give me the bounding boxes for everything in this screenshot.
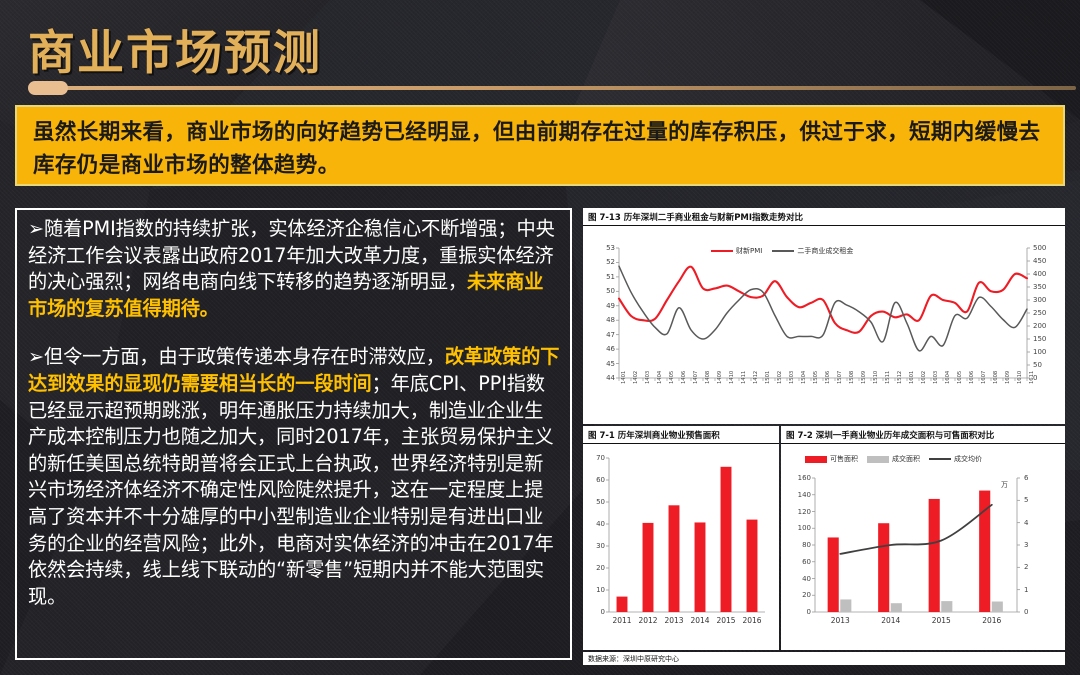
- legend-swatch-0: [711, 250, 733, 252]
- series-line-成交均价: [840, 505, 992, 554]
- category-label-2016: 2016: [976, 616, 1008, 625]
- category-label-2012: 2012: [634, 616, 662, 625]
- ytick-left-45: 45: [597, 360, 615, 368]
- xtick-1601: 1601: [909, 371, 915, 384]
- ytick-left-52: 52: [597, 258, 615, 266]
- category-label-2014: 2014: [686, 616, 714, 625]
- source-note: 数据来源：深圳中原研究中心: [583, 652, 1065, 665]
- category-label-2015: 2015: [712, 616, 740, 625]
- ytick-left-53: 53: [597, 244, 615, 252]
- xtick-1405: 1405: [669, 371, 675, 384]
- bar-成交面积-2016: [992, 602, 1003, 612]
- series-line-财新PMI: [619, 267, 1027, 333]
- paragraph-2-body-a: 但令一方面，由于政策传递本身存在时滞效应，: [44, 345, 445, 368]
- chart-title-supply-sales: 图 7-2 深圳一手商业物业历年成交面积与可售面积对比: [781, 426, 1065, 444]
- ytick-left-60: 60: [789, 558, 811, 566]
- bar-2012: [643, 523, 654, 612]
- xtick-1504: 1504: [801, 371, 807, 384]
- xtick-1605: 1605: [957, 371, 963, 384]
- ytick-right-300: 300: [1033, 296, 1046, 304]
- chart-legend-supply-sales: 可售面积成交面积成交均价: [805, 454, 982, 464]
- xtick-1611: 1611: [1029, 371, 1035, 384]
- category-label-2013: 2013: [824, 616, 856, 625]
- paragraph-2-body-b: ；年底CPI、PPI指数已经显示超预期跳涨，明年通胀压力持续加大，制造业企业生产…: [28, 372, 554, 608]
- bar-2015: [721, 467, 732, 612]
- category-label-2015: 2015: [925, 616, 957, 625]
- legend-label-0: 财新PMI: [736, 246, 762, 256]
- y2-unit-label: 万: [1001, 480, 1008, 490]
- ytick-right-450: 450: [1033, 257, 1046, 265]
- ytick-right-6: 6: [1024, 474, 1028, 482]
- xtick-1604: 1604: [945, 371, 951, 384]
- xtick-1407: 1407: [693, 371, 699, 384]
- ytick-left-48: 48: [597, 316, 615, 324]
- legend-label-1: 二手商业成交租金: [797, 246, 853, 256]
- xtick-1410: 1410: [729, 371, 735, 384]
- xtick-1606: 1606: [969, 371, 975, 384]
- ytick-left-160: 160: [789, 474, 811, 482]
- title-divider: [30, 86, 1076, 90]
- legend-label-0: 可售面积: [830, 454, 858, 464]
- ytick-left-49: 49: [597, 302, 615, 310]
- bar-2016: [747, 520, 758, 612]
- legend-label-2: 成交均价: [954, 454, 982, 464]
- bullet-marker-2: ➢: [28, 345, 44, 368]
- xtick-1502: 1502: [777, 371, 783, 384]
- slide-header: 商业市场预测: [0, 0, 1080, 100]
- bar-成交面积-2013: [840, 599, 851, 612]
- ytick-right-150: 150: [1033, 335, 1046, 343]
- pmi-rent-svg: [583, 226, 1065, 426]
- ytick-50: 50: [587, 498, 605, 506]
- category-label-2013: 2013: [660, 616, 688, 625]
- ytick-left-40: 40: [789, 575, 811, 583]
- ytick-10: 10: [587, 586, 605, 594]
- bar-成交面积-2014: [891, 603, 902, 612]
- xtick-1402: 1402: [633, 371, 639, 384]
- chart-card-pmi-rent: 图 7-13 历年深圳二手商业租金与财新PMI指数走势对比 财新PMI二手商业成…: [583, 208, 1065, 424]
- category-label-2016: 2016: [738, 616, 766, 625]
- charts-container: 图 7-13 历年深圳二手商业租金与财新PMI指数走势对比 财新PMI二手商业成…: [583, 208, 1065, 665]
- ytick-left-50: 50: [597, 287, 615, 295]
- xtick-1408: 1408: [705, 371, 711, 384]
- ytick-left-120: 120: [789, 508, 811, 516]
- chart-card-supply-sales: 图 7-2 深圳一手商业物业历年成交面积与可售面积对比 可售面积成交面积成交均价…: [781, 426, 1065, 650]
- legend-item-0: 可售面积: [805, 454, 858, 464]
- xtick-1507: 1507: [837, 371, 843, 384]
- ytick-right-3: 3: [1024, 541, 1028, 549]
- chart-plot-supply-sales: 可售面积成交面积成交均价0204060801001201401600123456…: [781, 444, 1065, 650]
- summary-banner-text: 虽然长期来看，商业市场的向好趋势已经明显，但由前期存在过量的库存积压，供过于求，…: [33, 116, 1049, 182]
- xtick-1505: 1505: [813, 371, 819, 384]
- legend-label-1: 成交面积: [892, 454, 920, 464]
- xtick-1503: 1503: [789, 371, 795, 384]
- xtick-1412: 1412: [753, 371, 759, 384]
- ytick-20: 20: [587, 564, 605, 572]
- chart-card-presale-area: 图 7-1 历年深圳商业物业预售面积 010203040506070201120…: [583, 426, 779, 650]
- ytick-left-47: 47: [597, 331, 615, 339]
- bar-可售面积-2015: [929, 499, 940, 612]
- ytick-60: 60: [587, 476, 605, 484]
- title-divider-knob: [28, 81, 68, 95]
- ytick-right-5: 5: [1024, 496, 1028, 504]
- ytick-left-20: 20: [789, 591, 811, 599]
- legend-swatch-0: [805, 456, 827, 463]
- bullet-marker: ➢: [28, 217, 44, 240]
- bar-2013: [669, 505, 680, 612]
- bar-可售面积-2014: [878, 523, 889, 612]
- summary-banner: 虽然长期来看，商业市场的向好趋势已经明显，但由前期存在过量的库存积压，供过于求，…: [15, 105, 1065, 186]
- chart-title-presale-area: 图 7-1 历年深圳商业物业预售面积: [583, 426, 779, 444]
- ytick-left-51: 51: [597, 273, 615, 281]
- ytick-left-80: 80: [789, 541, 811, 549]
- xtick-1607: 1607: [981, 371, 987, 384]
- xtick-1609: 1609: [1005, 371, 1011, 384]
- legend-item-1: 成交面积: [867, 454, 920, 464]
- ytick-right-250: 250: [1033, 309, 1046, 317]
- xtick-1610: 1610: [1017, 371, 1023, 384]
- ytick-right-350: 350: [1033, 283, 1046, 291]
- legend-item-1: 二手商业成交租金: [772, 246, 853, 256]
- bar-2011: [617, 597, 628, 612]
- ytick-right-1: 1: [1024, 586, 1028, 594]
- chart-legend-pmi-rent: 财新PMI二手商业成交租金: [711, 246, 853, 256]
- ytick-left-0: 0: [789, 608, 811, 616]
- ytick-right-500: 500: [1033, 244, 1046, 252]
- xtick-1602: 1602: [921, 371, 927, 384]
- bar-2014: [695, 522, 706, 612]
- xtick-1511: 1511: [885, 371, 891, 384]
- chart-title-pmi-rent: 图 7-13 历年深圳二手商业租金与财新PMI指数走势对比: [583, 208, 1065, 226]
- xtick-1404: 1404: [657, 371, 663, 384]
- legend-item-2: 成交均价: [929, 454, 982, 464]
- ytick-left-100: 100: [789, 524, 811, 532]
- xtick-1508: 1508: [849, 371, 855, 384]
- category-label-2014: 2014: [875, 616, 907, 625]
- paragraph-1: ➢随着PMI指数的持续扩张，实体经济企稳信心不断增强；中央经济工作会议表露出政府…: [28, 216, 560, 322]
- ytick-40: 40: [587, 520, 605, 528]
- ytick-right-400: 400: [1033, 270, 1046, 278]
- ytick-right-200: 200: [1033, 322, 1046, 330]
- xtick-1509: 1509: [861, 371, 867, 384]
- ytick-right-4: 4: [1024, 519, 1028, 527]
- xtick-1409: 1409: [717, 371, 723, 384]
- bar-成交面积-2015: [941, 601, 952, 612]
- chart-plot-pmi-rent: 财新PMI二手商业成交租金444546474849505152530501001…: [583, 226, 1065, 426]
- xtick-1501: 1501: [765, 371, 771, 384]
- legend-swatch-1: [772, 250, 794, 252]
- paragraph-2: ➢但令一方面，由于政策传递本身存在时滞效应，改革政策的下达到效果的显现仍需要相当…: [28, 344, 560, 610]
- ytick-right-0: 0: [1024, 608, 1028, 616]
- ytick-right-2: 2: [1024, 563, 1028, 571]
- xtick-1608: 1608: [993, 371, 999, 384]
- xtick-1512: 1512: [897, 371, 903, 384]
- bar-可售面积-2016: [979, 491, 990, 612]
- ytick-left-44: 44: [597, 374, 615, 382]
- legend-swatch-1: [867, 456, 889, 463]
- ytick-left-46: 46: [597, 345, 615, 353]
- analysis-text-panel: ➢随着PMI指数的持续扩张，实体经济企稳信心不断增强；中央经济工作会议表露出政府…: [15, 208, 572, 660]
- ytick-left-140: 140: [789, 491, 811, 499]
- xtick-1403: 1403: [645, 371, 651, 384]
- ytick-right-50: 50: [1033, 361, 1042, 369]
- xtick-1506: 1506: [825, 371, 831, 384]
- chart-plot-presale-area: 010203040506070201120122013201420152016: [583, 444, 779, 650]
- legend-swatch-2: [929, 458, 951, 460]
- category-label-2011: 2011: [608, 616, 636, 625]
- xtick-1411: 1411: [741, 371, 747, 384]
- legend-item-0: 财新PMI: [711, 246, 762, 256]
- ytick-right-100: 100: [1033, 348, 1046, 356]
- ytick-70: 70: [587, 454, 605, 462]
- ytick-0: 0: [587, 608, 605, 616]
- bar-可售面积-2013: [828, 537, 839, 612]
- xtick-1510: 1510: [873, 371, 879, 384]
- xtick-1603: 1603: [933, 371, 939, 384]
- ytick-30: 30: [587, 542, 605, 550]
- xtick-1406: 1406: [681, 371, 687, 384]
- xtick-1401: 1401: [621, 371, 627, 384]
- page-title: 商业市场预测: [28, 14, 322, 83]
